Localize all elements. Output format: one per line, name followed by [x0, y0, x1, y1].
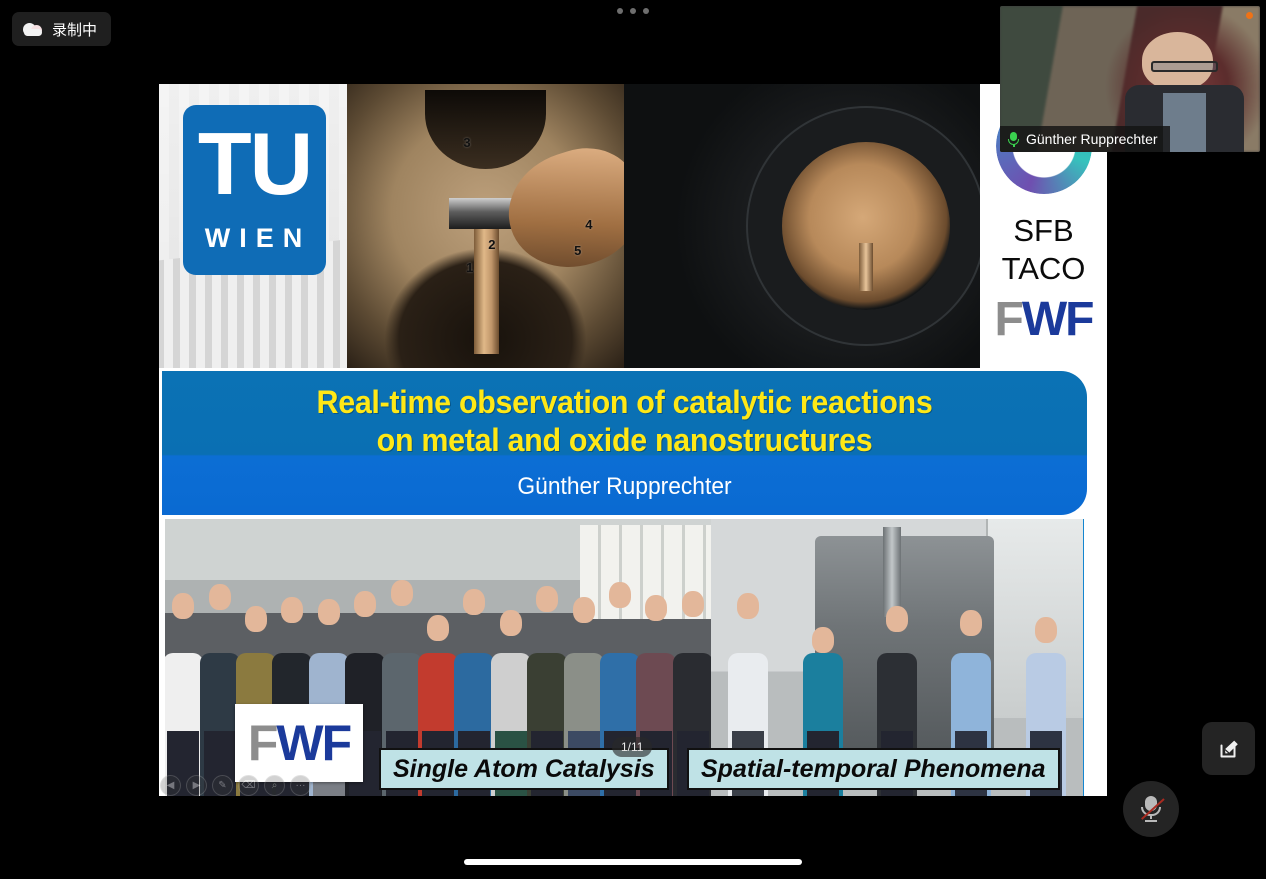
cloud-icon — [23, 22, 43, 36]
chamber-label-2: 2 — [488, 237, 495, 252]
slide-author: Günther Rupprechter — [185, 473, 1064, 501]
fwf-placard-w: W — [276, 715, 321, 771]
eraser-button[interactable]: ⌫ — [238, 775, 259, 796]
fwf-logo-top: FWF — [980, 292, 1107, 347]
slide-image-strip: TU WIEN 1 2 3 4 5 — [159, 84, 1107, 368]
recording-label: 录制中 — [52, 19, 97, 40]
chamber-label-1: 1 — [466, 260, 473, 275]
slide-toolbar[interactable]: ◀ ▶ ✎ ⌫ ⌕ ··· — [160, 775, 311, 796]
mute-button[interactable] — [1123, 781, 1179, 837]
chamber-interior-image — [347, 84, 624, 368]
tuwien-logo-panel: TU WIEN — [159, 84, 347, 368]
fwf-placard: FWF — [235, 704, 363, 782]
pen-tool-button[interactable]: ✎ — [212, 775, 233, 796]
chamber-label-4: 4 — [585, 217, 592, 232]
sample-crystal — [449, 198, 524, 229]
previous-slide-button[interactable]: ◀ — [160, 775, 181, 796]
fwf-letter-w: W — [1022, 293, 1065, 346]
home-indicator-bar — [464, 859, 802, 865]
recording-badge[interactable]: 录制中 — [12, 12, 111, 46]
person — [201, 580, 237, 796]
microphone-muted-icon — [1140, 796, 1162, 822]
chamber-label-5: 5 — [574, 243, 581, 258]
tu-wien-logo: TU WIEN — [183, 105, 326, 275]
participant-video-tile[interactable]: Günther Rupprechter — [1000, 6, 1260, 152]
fwf-placard-f1: F — [248, 715, 277, 771]
slide-title-line-1: Real-time observation of catalytic react… — [317, 384, 933, 420]
fwf-letter-f2: F — [1065, 293, 1092, 346]
fwf-letter-f1: F — [995, 293, 1022, 346]
screen-share-viewer: 录制中 TU WIEN 1 2 3 4 — [0, 0, 1266, 879]
caption-spatial-temporal-phenomena: Spatial-temporal Phenomena — [687, 748, 1060, 790]
recording-indicator-dot — [1246, 12, 1253, 19]
shared-slide[interactable]: TU WIEN 1 2 3 4 5 — [159, 84, 1107, 796]
play-button[interactable]: ▶ — [186, 775, 207, 796]
slide-title-banner: Real-time observation of catalytic react… — [162, 371, 1087, 515]
participant-name: Günther Rupprechter — [1026, 131, 1158, 147]
pencil-square-icon — [1216, 736, 1242, 762]
person — [165, 580, 201, 796]
tu-logo-line2: WIEN — [183, 223, 326, 253]
chamber-label-3: 3 — [463, 135, 470, 150]
tu-logo-line1: TU — [183, 105, 326, 223]
zoom-button[interactable]: ⌕ — [264, 775, 285, 796]
page-indicator: 1/11 — [612, 737, 652, 757]
more-button[interactable]: ··· — [290, 775, 311, 796]
sfb-line2: TACO — [980, 250, 1107, 288]
annotate-button[interactable] — [1202, 722, 1255, 775]
microphone-icon — [1008, 132, 1019, 147]
slide-title-line-2: on metal and oxide nanostructures — [377, 422, 873, 458]
participant-name-label: Günther Rupprechter — [1000, 126, 1170, 152]
slide-title: Real-time observation of catalytic react… — [185, 383, 1064, 459]
vacuum-chamber-photo: 1 2 3 4 5 — [347, 84, 624, 368]
sfb-line1: SFB — [980, 212, 1107, 250]
fwf-placard-f2: F — [322, 715, 351, 771]
